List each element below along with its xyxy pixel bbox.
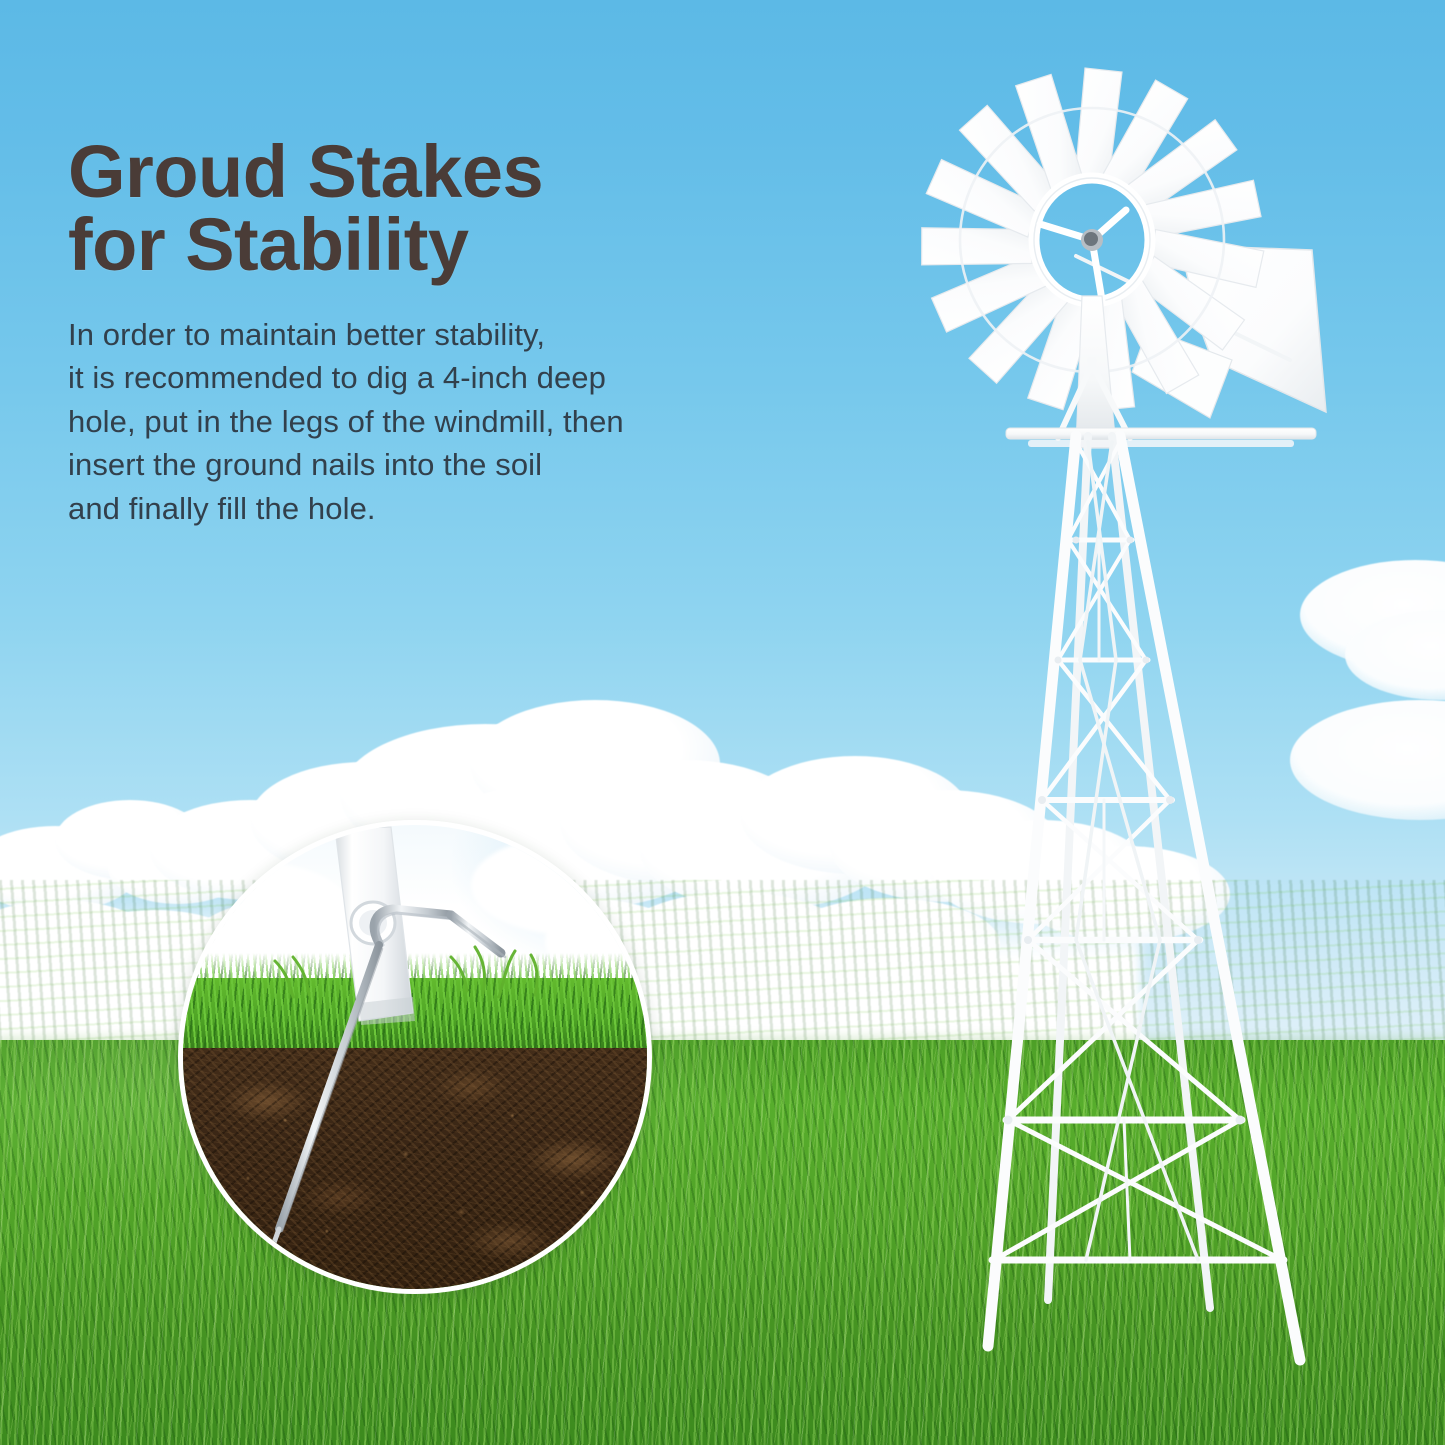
page-title: Groud Stakes for Stability xyxy=(68,136,828,281)
headline-line-2: for Stability xyxy=(68,209,828,282)
text-block: Groud Stakes for Stability In order to m… xyxy=(68,136,828,530)
tower-platform xyxy=(1006,428,1316,447)
windmill-illustration xyxy=(880,60,1400,1380)
body-line-5: and finally fill the hole. xyxy=(68,487,828,530)
tower-frame xyxy=(988,436,1300,1360)
body-line-1: In order to maintain better stability, xyxy=(68,313,828,356)
product-marketing-image: Groud Stakes for Stability In order to m… xyxy=(0,0,1445,1445)
headline-line-1: Groud Stakes xyxy=(68,136,828,209)
inset-stake-illustration xyxy=(183,825,647,1289)
body-line-3: hole, put in the legs of the windmill, t… xyxy=(68,400,828,443)
ground-stake-detail-inset xyxy=(178,820,652,1294)
body-line-4: insert the ground nails into the soil xyxy=(68,443,828,486)
rotor-hub xyxy=(1034,178,1150,302)
description-paragraph: In order to maintain better stability, i… xyxy=(68,313,828,530)
windmill-product xyxy=(880,60,1400,1380)
body-line-2: it is recommended to dig a 4-inch deep xyxy=(68,356,828,399)
